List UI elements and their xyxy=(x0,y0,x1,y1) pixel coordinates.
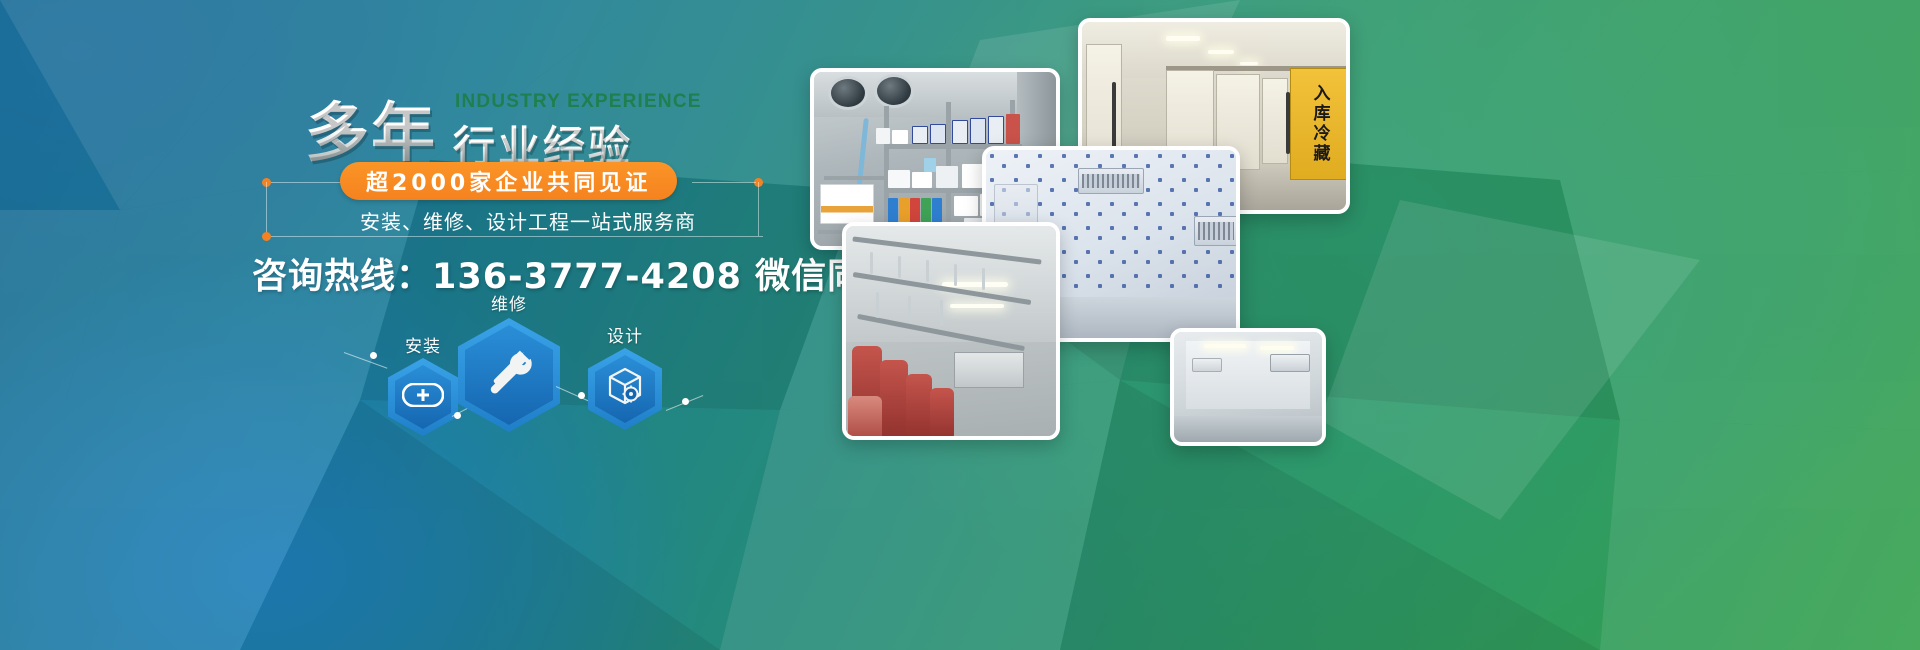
photo2-door-handle xyxy=(1112,82,1116,152)
headline-big-text: 多年 xyxy=(305,82,437,174)
process-step-install[interactable]: 安装 xyxy=(388,358,458,436)
photo4-hook xyxy=(898,256,901,278)
headline-group: 多年 INDUSTRY EXPERIENCE 行业经验 xyxy=(305,88,775,158)
photo4-meat xyxy=(906,374,932,440)
photo4-light-tube xyxy=(950,304,1004,308)
photo2-lamp xyxy=(1208,50,1234,54)
photo4-meat xyxy=(848,396,882,440)
witness-badge: 超2000家企业共同见证 xyxy=(340,162,677,200)
photo4-hook xyxy=(954,264,957,286)
process-step-repair[interactable]: 维修 xyxy=(458,318,560,432)
photo1-box xyxy=(930,124,946,144)
photo4-meat xyxy=(930,388,954,440)
photo1-box xyxy=(936,166,958,188)
cold-storage-door-sign: 入库冷藏 xyxy=(1290,68,1350,180)
photo5-evaporator-unit xyxy=(1192,358,1222,372)
photo1-box xyxy=(970,118,986,144)
hexagon-install xyxy=(388,358,458,436)
photo-collage: 入库冷藏 xyxy=(800,0,1920,650)
process-step-design[interactable]: 设计 xyxy=(588,348,662,430)
bracket-line-top xyxy=(271,182,349,183)
photo5-evaporator-unit xyxy=(1270,354,1310,372)
empty-cold-room-image xyxy=(1174,332,1322,442)
photo1-fan-left xyxy=(828,76,868,110)
photo1-rack-shelf xyxy=(824,176,884,180)
bracket-line-left xyxy=(266,182,267,236)
photo5-floor xyxy=(1174,416,1322,442)
cube-gear-icon xyxy=(605,366,645,413)
photo3-evaporator-grille xyxy=(1198,222,1234,240)
process-link-left xyxy=(344,352,388,369)
photo4-hook xyxy=(940,300,943,326)
promo-banner: 多年 INDUSTRY EXPERIENCE 行业经验 超2000家企业共同见证… xyxy=(0,0,1920,650)
photo1-box xyxy=(1006,114,1020,144)
photo3-evaporator-grille xyxy=(1082,174,1140,188)
photo1-box xyxy=(924,158,936,172)
process-dot-2-3 xyxy=(578,392,585,399)
process-label-install: 安装 xyxy=(388,332,458,357)
photo1-fan-right xyxy=(874,74,914,108)
photo4-evaporator xyxy=(954,352,1024,388)
process-label-design: 设计 xyxy=(588,322,662,347)
bracket-line-top-right xyxy=(692,182,756,183)
meat-hanging-rail-photo xyxy=(842,222,1060,440)
photo4-hook xyxy=(908,296,911,322)
photo4-hook xyxy=(876,292,879,318)
photo1-foreground-carton xyxy=(820,184,874,224)
door-sign-text: 入库冷藏 xyxy=(1308,84,1333,164)
photo2-lamp xyxy=(1166,36,1200,41)
photo2-white-door xyxy=(1262,78,1288,164)
photo5-light-tube xyxy=(1204,344,1246,348)
photo4-hook xyxy=(982,268,985,290)
photo5-light-tube xyxy=(1260,346,1294,350)
hexagon-design xyxy=(588,348,662,430)
photo2-yellow-door-handle xyxy=(1286,92,1290,154)
hexagon-repair xyxy=(458,318,560,432)
photo1-box xyxy=(954,196,978,216)
photo2-lamp xyxy=(1240,62,1258,65)
bracket-line-right xyxy=(758,182,759,236)
photo1-box xyxy=(952,120,968,144)
photo1-box xyxy=(912,172,932,188)
process-label-repair: 维修 xyxy=(458,290,560,315)
photo1-box xyxy=(876,128,890,144)
bracket-dot-bottom-left xyxy=(262,232,271,241)
photo5-back-wall xyxy=(1186,341,1310,409)
empty-cold-room-photo xyxy=(1170,328,1326,446)
plus-icon xyxy=(402,383,444,412)
service-tagline: 安装、维修、设计工程一站式服务商 xyxy=(360,206,696,235)
meat-hanging-rail-image xyxy=(846,226,1056,436)
photo1-box xyxy=(912,126,928,144)
process-steps: 安装 维修 xyxy=(330,300,730,480)
photo4-meat xyxy=(880,360,908,440)
bracket-line-bottom xyxy=(271,236,763,237)
photo4-light-tube xyxy=(942,282,1008,287)
photo1-box xyxy=(988,116,1004,144)
photo4-hook xyxy=(926,260,929,282)
photo1-box xyxy=(888,170,910,188)
process-dot-left xyxy=(370,352,377,359)
photo1-box xyxy=(892,130,908,144)
headline-english-text: INDUSTRY EXPERIENCE xyxy=(455,91,702,113)
left-content: 多年 INDUSTRY EXPERIENCE 行业经验 超2000家企业共同见证… xyxy=(0,0,820,650)
wrench-screwdriver-icon xyxy=(480,344,538,407)
photo4-hook xyxy=(870,252,873,274)
process-dot-right xyxy=(682,398,689,405)
